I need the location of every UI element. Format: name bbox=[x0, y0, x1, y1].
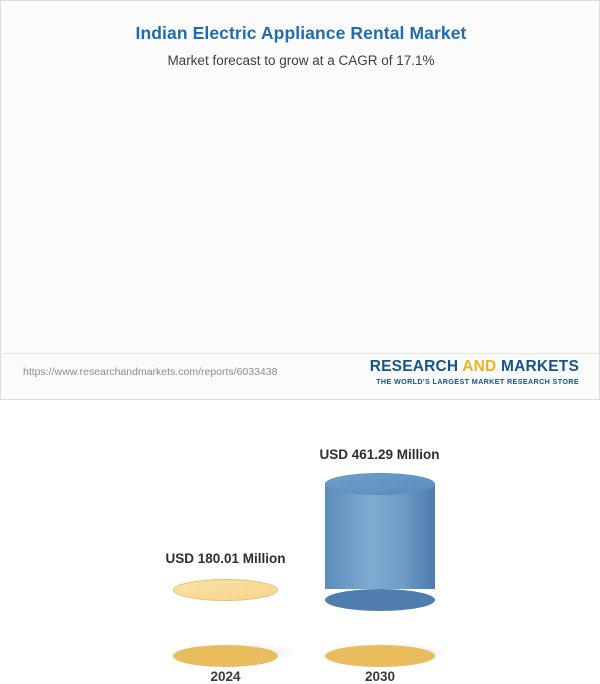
bar-cylinder-2030[interactable] bbox=[325, 473, 435, 656]
source-url[interactable]: https://www.researchandmarkets.com/repor… bbox=[23, 366, 277, 378]
cylinder-bottom-face bbox=[325, 645, 435, 667]
footer-divider bbox=[2, 353, 600, 354]
chart-canvas: Indian Electric Appliance Rental Market … bbox=[0, 0, 600, 400]
cylinder-side-face bbox=[325, 484, 435, 589]
cylinder-bottom-face bbox=[173, 645, 278, 667]
bar-segment-growth bbox=[325, 473, 435, 600]
logo-wordmark: RESEARCH AND MARKETS bbox=[370, 359, 579, 375]
bar-value-label-2024: USD 180.01 Million bbox=[149, 551, 302, 566]
bar-cylinder-2024[interactable] bbox=[173, 579, 278, 656]
bar-segment-base bbox=[173, 579, 278, 656]
logo-word-and: AND bbox=[462, 358, 496, 375]
research-and-markets-logo[interactable]: RESEARCH AND MARKETS THE WORLD'S LARGEST… bbox=[370, 359, 579, 386]
bar-category-label-2030: 2030 bbox=[325, 669, 435, 684]
logo-word-research: RESEARCH bbox=[370, 358, 459, 375]
bar-value-label-2030: USD 461.29 Million bbox=[303, 447, 456, 462]
logo-word-markets: MARKETS bbox=[501, 358, 579, 375]
plot-area: USD 180.01 Million 2024 USD 4 bbox=[1, 1, 600, 351]
cylinder-top-face bbox=[173, 579, 278, 601]
logo-tagline: THE WORLD'S LARGEST MARKET RESEARCH STOR… bbox=[370, 377, 579, 386]
cylinder-bottom-face bbox=[325, 589, 435, 611]
bar-category-label-2024: 2024 bbox=[173, 669, 278, 684]
cylinder-top-face bbox=[325, 473, 435, 495]
